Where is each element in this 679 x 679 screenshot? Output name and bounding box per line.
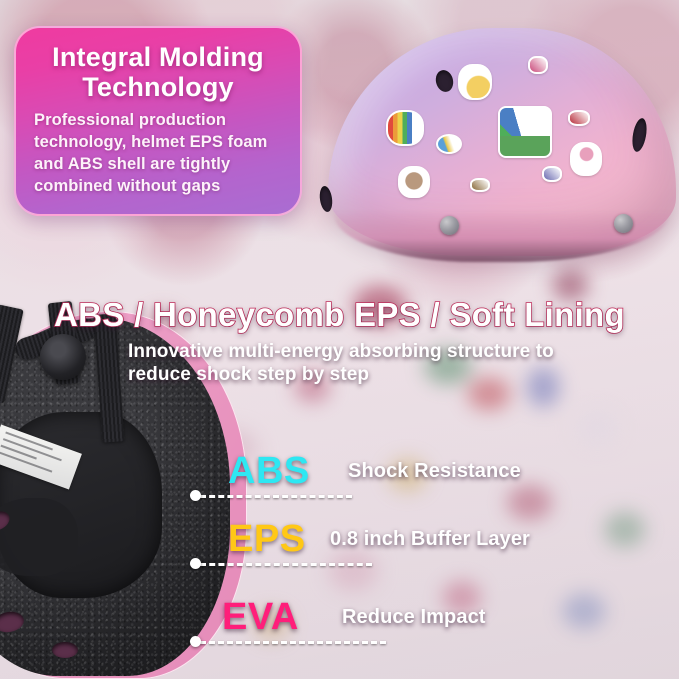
small-sticker-icon [528, 56, 544, 70]
shooting-star-sticker-icon [436, 134, 458, 150]
unicorn-moon-sticker-icon [458, 64, 488, 96]
material-label-eps: EPS [228, 520, 306, 558]
small-sticker-icon [568, 110, 586, 122]
helmet-rivet-icon [440, 216, 459, 235]
callout-title: Integral Molding Technology [34, 42, 282, 102]
rainbow-ponies-sticker-icon [498, 106, 548, 154]
helmet-exterior-image [318, 18, 679, 280]
page-title: ABS / Honeycomb EPS / Soft Lining [0, 296, 679, 334]
leader-anchor-dot [190, 490, 201, 501]
material-desc-abs: Shock Resistance [348, 460, 521, 483]
page-subtitle: Innovative multi-energy absorbing struct… [128, 341, 568, 387]
helmet-rivet-icon [614, 214, 633, 233]
product-infographic: Integral Molding Technology Professional… [0, 0, 679, 679]
cutaway-lining-pad [0, 498, 78, 576]
strap-buckle-icon [40, 334, 86, 380]
leader-anchor-dot [190, 636, 201, 647]
unicorn-rainbow-sticker-icon [386, 110, 420, 142]
horse-sticker-icon [398, 166, 426, 194]
integral-molding-callout: Integral Molding Technology Professional… [14, 26, 302, 216]
leader-anchor-dot [190, 558, 201, 569]
care-label-line [0, 445, 36, 460]
cutaway-vent-hole-icon [52, 642, 78, 658]
small-sticker-icon [542, 166, 558, 178]
material-desc-eps: 0.8 inch Buffer Layer [330, 528, 530, 551]
callout-body: Professional production technology, helm… [34, 110, 282, 198]
small-sticker-icon [470, 178, 486, 188]
material-desc-eva: Reduce Impact [342, 606, 486, 629]
material-label-abs: ABS [228, 452, 310, 490]
material-label-eva: EVA [222, 598, 299, 636]
unicorn-cake-sticker-icon [570, 142, 598, 172]
